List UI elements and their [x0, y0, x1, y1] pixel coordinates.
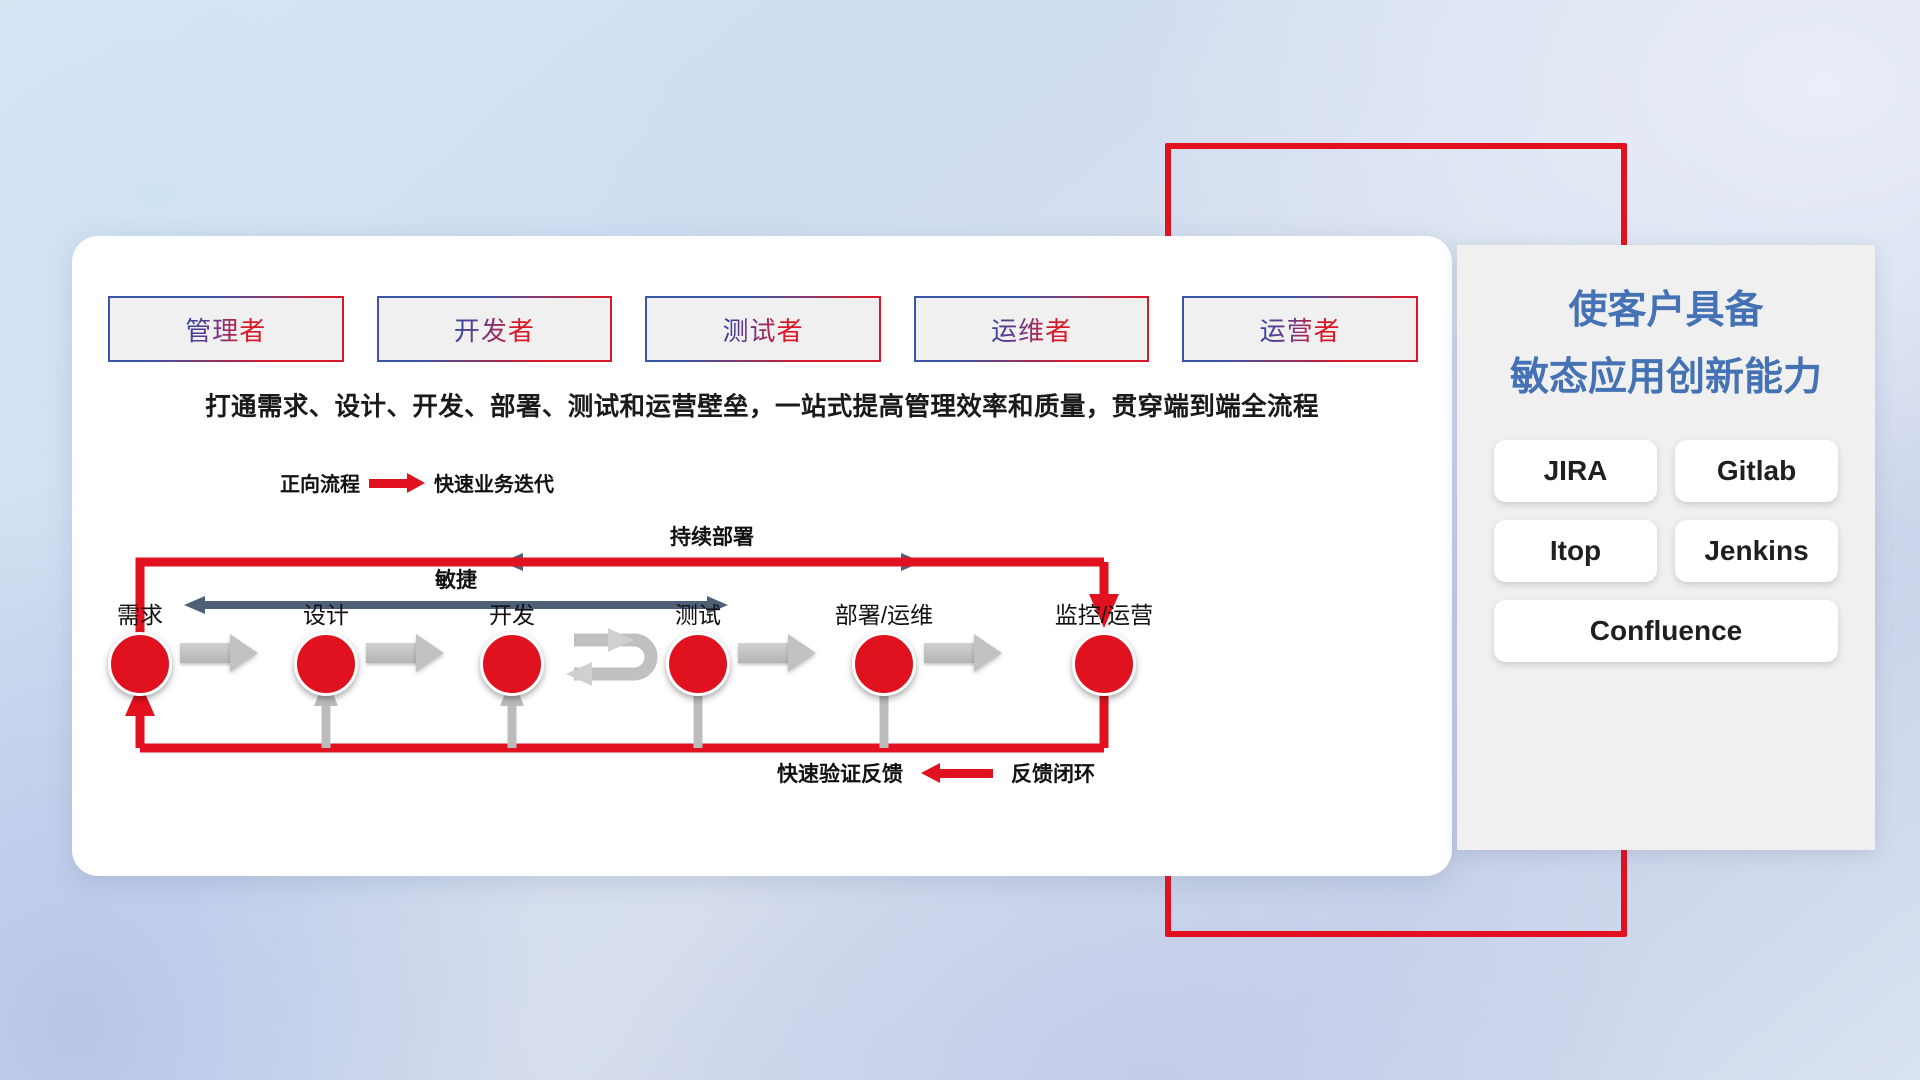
tool-chip-gitlab[interactable]: Gitlab [1675, 440, 1838, 502]
tool-chip-itop[interactable]: Itop [1494, 520, 1657, 582]
stage-dot-icon [1072, 632, 1136, 696]
stage-label: 部署/运维 [809, 596, 959, 630]
capability-panel: 使客户具备 敏态应用创新能力 JIRA Gitlab Itop Jenkins … [1457, 245, 1875, 850]
gray-arrow-icon [924, 634, 1002, 672]
legend-feedback-loop: 快速验证反馈 反馈闭环 [777, 758, 1095, 788]
legend-feedback-left-label: 快速验证反馈 [777, 758, 903, 788]
stage-dot-icon [108, 632, 172, 696]
tool-chip-jenkins[interactable]: Jenkins [1675, 520, 1838, 582]
panel-title-line2: 敏态应用创新能力 [1483, 350, 1849, 405]
gray-arrow-icon [366, 634, 444, 672]
legend-feedback-right-label: 反馈闭环 [1011, 758, 1095, 788]
stage-label: 设计 [251, 596, 401, 630]
pipeline-stage-monitor-operation[interactable]: 监控/运营 [1029, 596, 1179, 696]
tool-chip-confluence[interactable]: Confluence [1494, 600, 1838, 662]
stage-label: 测试 [623, 596, 773, 630]
stage-dot-icon [480, 632, 544, 696]
gray-arrow-icon [738, 634, 816, 672]
tools-grid: JIRA Gitlab Itop Jenkins Confluence [1483, 440, 1849, 662]
red-arrow-left-icon [921, 763, 993, 783]
panel-title: 使客户具备 敏态应用创新能力 [1483, 283, 1849, 406]
gray-arrow-icon [180, 634, 258, 672]
tool-chip-jira[interactable]: JIRA [1494, 440, 1657, 502]
stage-dot-icon [852, 632, 916, 696]
panel-title-line1: 使客户具备 [1483, 283, 1849, 338]
pipeline-row: 需求 设计 开发 测试 部署/运 [72, 236, 1452, 876]
stage-dot-icon [666, 632, 730, 696]
stage-label: 需求 [65, 596, 215, 630]
stage-dot-icon [294, 632, 358, 696]
main-diagram-card: 管理者 开发者 测试者 运维者 运营者 打通需求、设计、开发、部署、测试和运营壁… [72, 236, 1452, 876]
stage-label: 监控/运营 [1029, 596, 1179, 630]
